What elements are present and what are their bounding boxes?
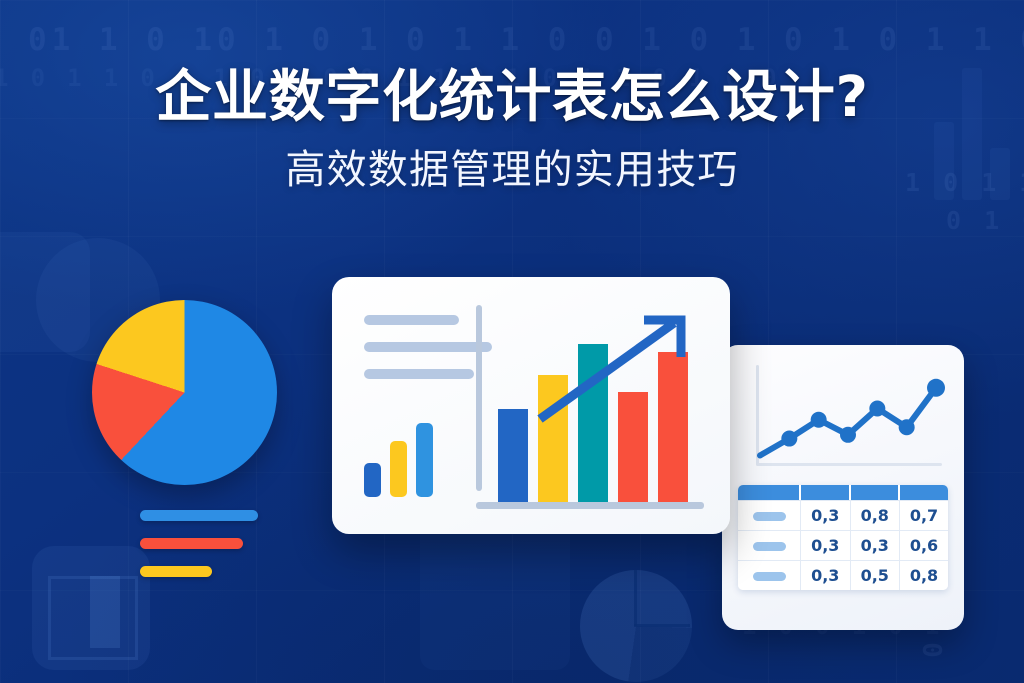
table-cell-value: 0,8: [900, 560, 948, 590]
data-table-body: 0,30,80,70,30,30,60,30,50,8: [738, 500, 948, 590]
table-cell-value: 0,3: [801, 500, 851, 530]
table-row: 0,30,50,8: [738, 560, 948, 590]
watermark-pie-chart-icon: [580, 570, 692, 682]
table-header-cell: [801, 485, 851, 500]
line-chart-point: [869, 400, 885, 416]
table-row: 0,30,30,6: [738, 530, 948, 560]
label-placeholder-pill: [753, 572, 786, 581]
label-placeholder-pill: [753, 512, 786, 521]
table-row: 0,30,80,7: [738, 500, 948, 530]
mini-bar-chart: [364, 419, 438, 497]
data-table: 0,30,80,70,30,30,60,30,50,8: [738, 485, 948, 590]
bar-chart-x-axis: [476, 502, 704, 509]
table-cell-value: 0,6: [900, 530, 948, 560]
mini-bar-blue: [364, 463, 381, 497]
table-cell-label: [738, 560, 801, 590]
table-cell-value: 0,7: [900, 500, 948, 530]
pie-chart: [92, 300, 277, 485]
data-table-header: [738, 485, 948, 500]
line-chart-series: [738, 359, 948, 477]
legend-bar: [140, 538, 243, 549]
mini-bar-lightblue: [416, 423, 433, 497]
line-chart-point: [840, 427, 856, 443]
bar-chart-y-axis: [476, 305, 482, 491]
bar-chart-card: [332, 277, 730, 534]
text-placeholder-line: [364, 369, 474, 379]
table-cell-value: 0,5: [851, 560, 901, 590]
page-subtitle: 高效数据管理的实用技巧: [0, 148, 1024, 192]
table-cell-label: [738, 500, 801, 530]
label-placeholder-pill: [753, 542, 786, 551]
watermark-square-left: [0, 232, 90, 352]
table-header-cell: [738, 485, 801, 500]
line-chart-point: [899, 419, 915, 435]
binary-digits-top-right-2: 0 1 0 1: [946, 206, 1024, 235]
line-chart-point: [927, 379, 945, 397]
binary-digits-row-1: 01 1 0 10 1 0 1 0 1 1 0 0 1 0 1 0 1 0 1 …: [28, 22, 1024, 58]
table-header-cell: [900, 485, 948, 500]
line-chart-point: [811, 412, 827, 428]
table-header-row: [738, 485, 948, 500]
page-title: 企业数字化统计表怎么设计?: [0, 68, 1024, 128]
poster-canvas: 01 1 0 10 1 0 1 0 1 1 0 0 1 0 1 0 1 0 1 …: [0, 0, 1024, 683]
text-placeholder-line: [364, 342, 492, 352]
table-cell-value: 0,3: [801, 560, 851, 590]
line-chart: [738, 359, 948, 477]
pie-chart-group: [92, 300, 292, 594]
bar-chart-bar: [498, 409, 528, 502]
text-placeholder-line: [364, 315, 459, 325]
line-chart-point: [781, 431, 797, 447]
line-chart-card: 0,30,80,70,30,30,60,30,50,8: [722, 345, 964, 630]
text-placeholder-lines: [364, 315, 492, 396]
table-cell-label: [738, 530, 801, 560]
mini-bar-yellow: [390, 441, 407, 497]
legend-bar: [140, 510, 258, 521]
table-cell-value: 0,3: [851, 530, 901, 560]
table-header-cell: [851, 485, 901, 500]
data-table-wrapper: 0,30,80,70,30,30,60,30,50,8: [738, 485, 948, 590]
headline-block: 企业数字化统计表怎么设计? 高效数据管理的实用技巧: [0, 68, 1024, 192]
legend-bar: [140, 566, 212, 577]
table-cell-value: 0,3: [801, 530, 851, 560]
table-cell-value: 0,8: [851, 500, 901, 530]
pie-chart-legend: [140, 510, 292, 577]
main-bar-chart: [476, 305, 706, 509]
trend-arrow-icon: [536, 305, 706, 425]
